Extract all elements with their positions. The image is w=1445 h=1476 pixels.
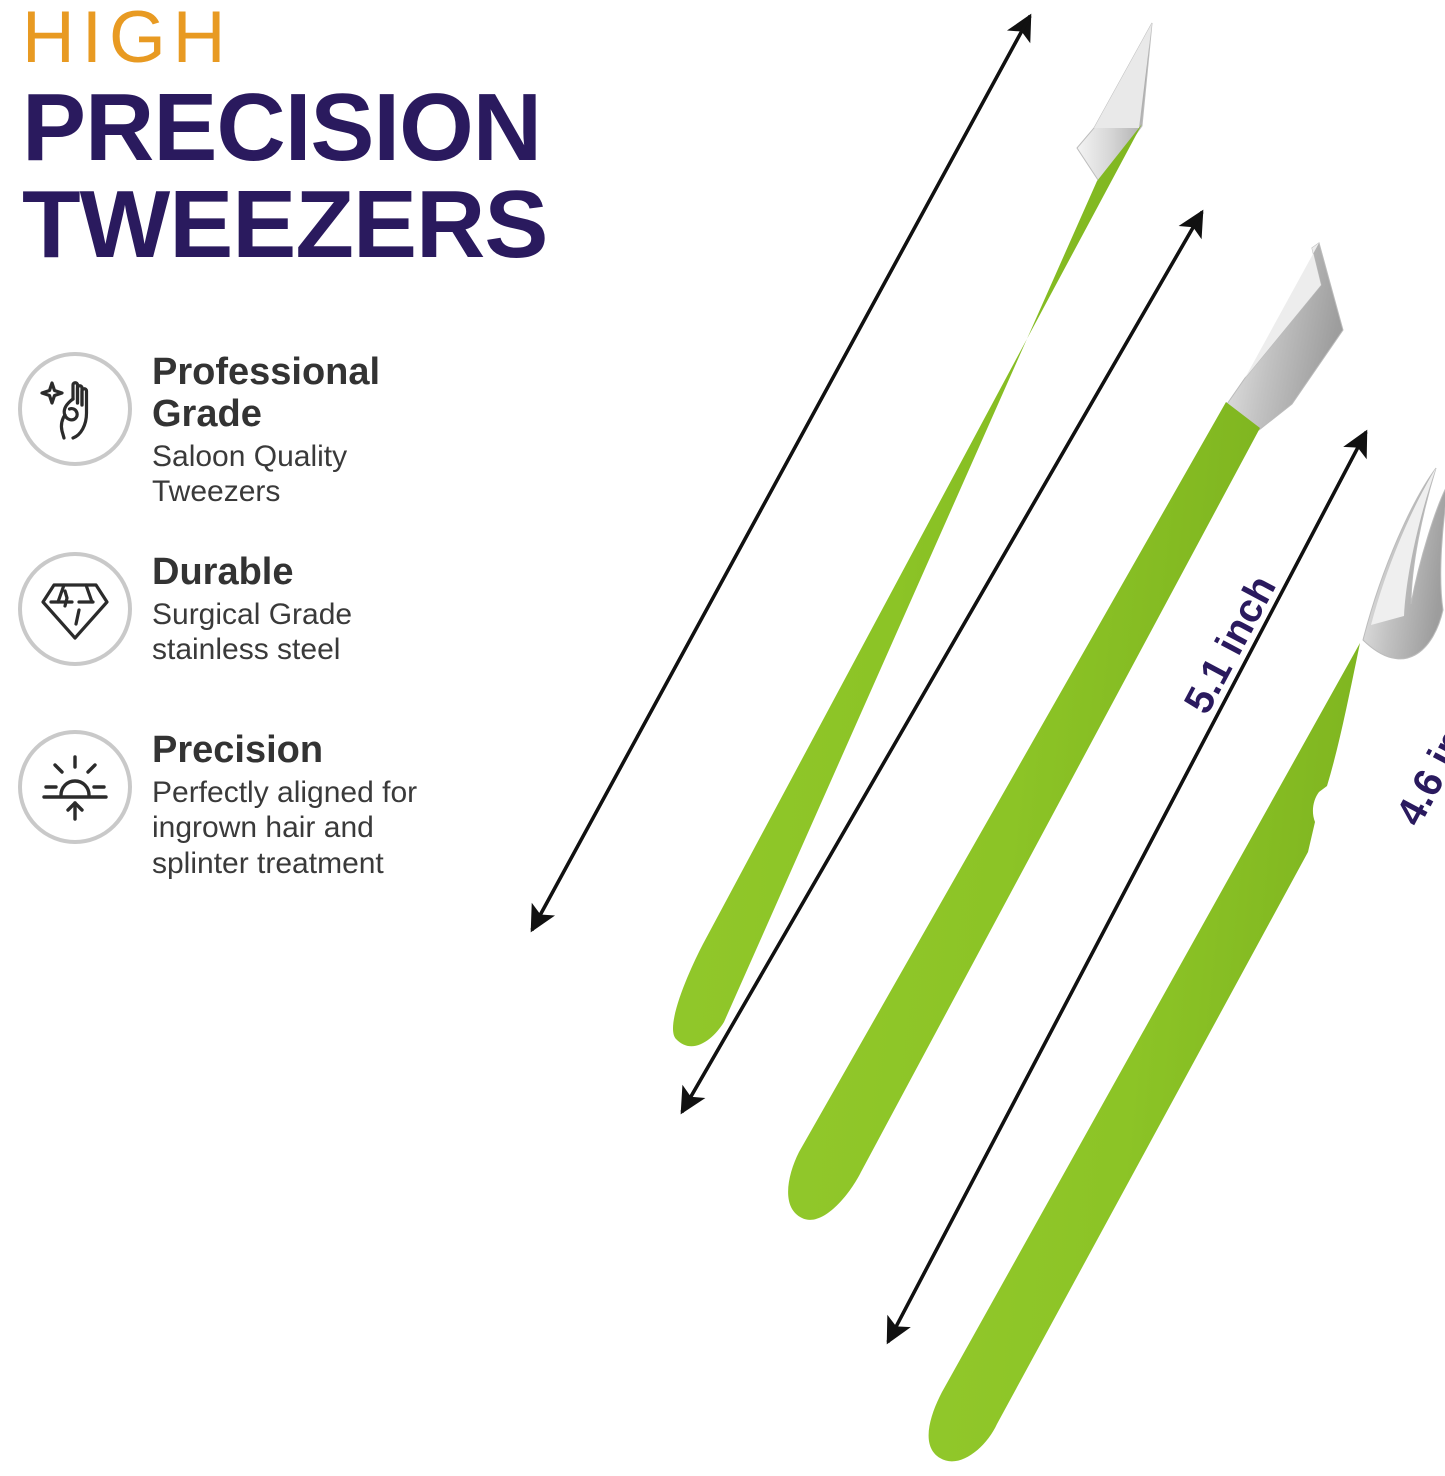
feature-desc-line-1: Perfectly aligned for (152, 776, 417, 809)
feature-desc-line-2: Tweezers (152, 475, 280, 508)
feature-title-line-1: Professional (152, 351, 380, 393)
feature-desc-line-1: Surgical Grade (152, 598, 352, 631)
feature-desc-line-3: splinter treatment (152, 847, 384, 880)
angled-bent-tweezer (788, 243, 1343, 1220)
sunrise-arrow-icon (18, 730, 132, 844)
infographic-canvas: HIGH PRECISION TWEEZERS (0, 0, 1445, 1476)
feature-desc-line-2: stainless steel (152, 633, 340, 666)
straight-point-tweezer (673, 23, 1152, 1046)
ok-hand-sparkle-icon (18, 352, 132, 466)
curved-hook-tweezer (929, 468, 1445, 1461)
feature-desc-line-2: ingrown hair and (152, 811, 374, 844)
product-photo-area: 5.1 inch 4.6 inch 4.6 inch (470, 0, 1445, 1476)
diamond-gem-icon (18, 552, 132, 666)
feature-title-line-2: Grade (152, 393, 262, 435)
feature-desc-line-1: Saloon Quality (152, 440, 347, 473)
tweezers-illustration (470, 0, 1445, 1476)
